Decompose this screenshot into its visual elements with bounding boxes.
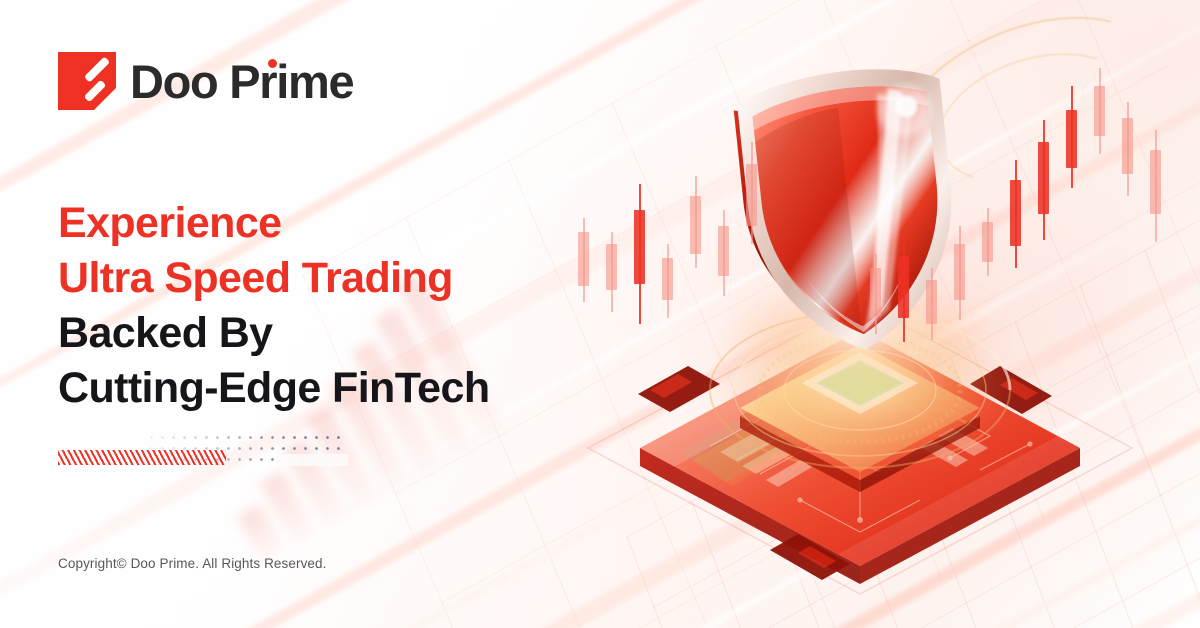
logo-i-dot (268, 59, 277, 68)
brand-name: Doo Prime (130, 58, 353, 105)
divider-ornament (58, 432, 348, 468)
headline-line-2: Ultra Speed Trading (58, 251, 489, 306)
brand-name-text: Doo Prime (130, 55, 353, 108)
doo-prime-logo-mark (58, 52, 116, 110)
doo-prime-promo-banner: Doo Prime Experience Ultra Speed Trading… (0, 0, 1200, 628)
logo-slash-upper (84, 56, 110, 82)
headline-line-3: Backed By (58, 306, 489, 361)
copyright-text: Copyright© Doo Prime. All Rights Reserve… (58, 556, 327, 571)
dot-matrix (146, 432, 348, 466)
brand-logo[interactable]: Doo Prime (58, 52, 353, 110)
headline-line-4: Cutting-Edge FinTech (58, 361, 489, 416)
headline-block: Experience Ultra Speed Trading Backed By… (58, 196, 489, 416)
headline-line-1: Experience (58, 196, 489, 251)
logo-slash-lower (84, 80, 107, 103)
